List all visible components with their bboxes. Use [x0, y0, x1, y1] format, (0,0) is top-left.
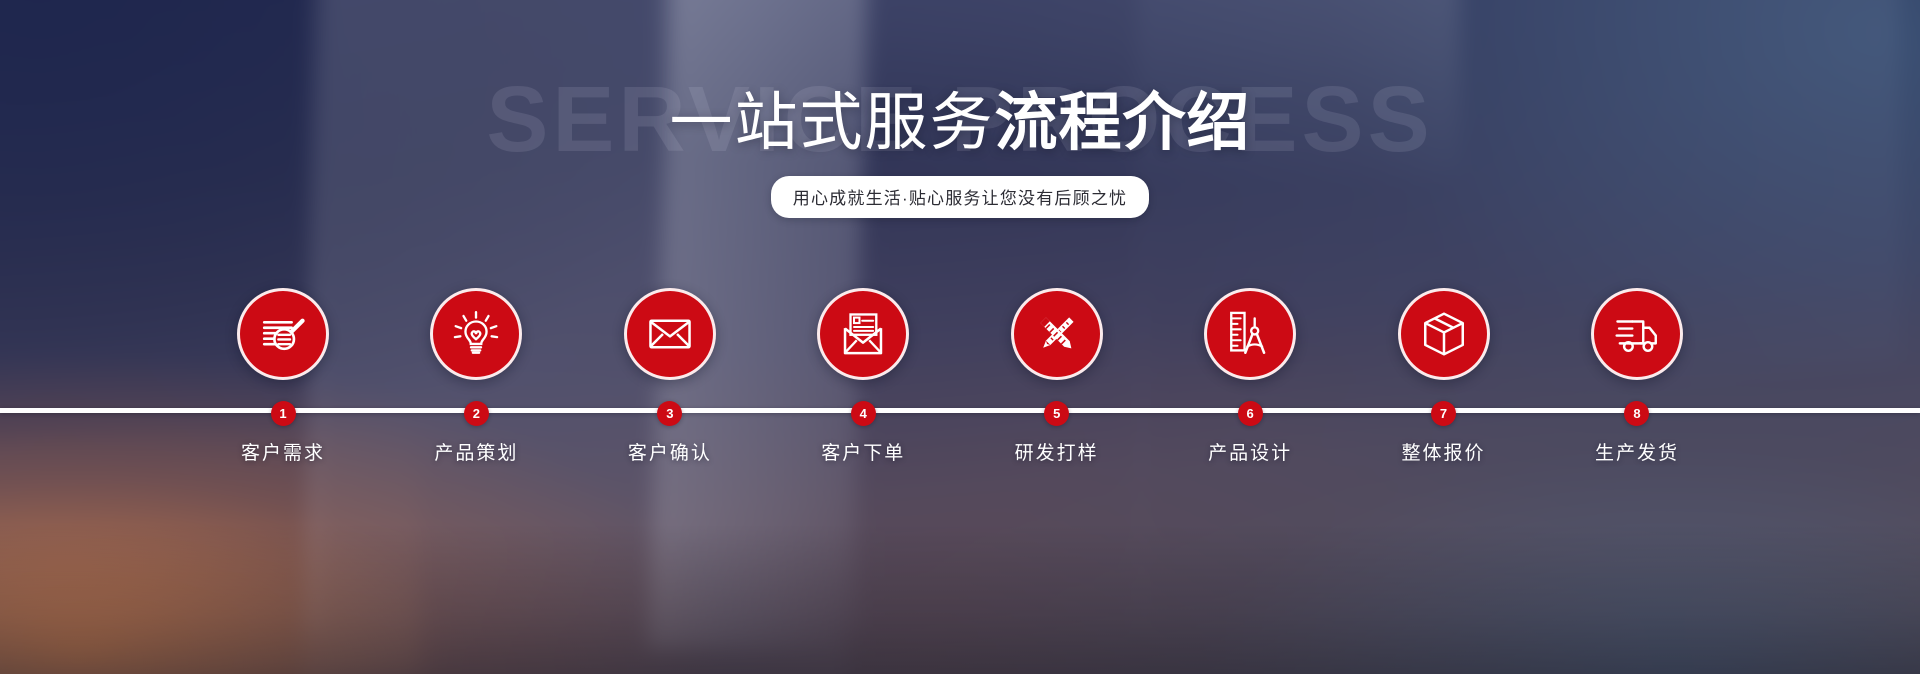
step-icon-circle[interactable]: [817, 288, 909, 380]
step-number-badge: 2: [464, 401, 489, 426]
process-step[interactable]: 7 整体报价: [1356, 288, 1532, 380]
step-number-badge: 6: [1238, 401, 1263, 426]
step-number-badge: 4: [851, 401, 876, 426]
process-step[interactable]: 3 客户确认: [582, 288, 758, 380]
step-label: 客户确认: [628, 438, 712, 465]
delivery-truck-icon: [1612, 309, 1662, 359]
step-label: 客户需求: [241, 438, 325, 465]
step-icon-circle[interactable]: [624, 288, 716, 380]
step-icon-circle[interactable]: [237, 288, 329, 380]
banner-stage: SERVICE PROCESS 一站式服务流程介绍 用心成就生活·贴心服务让您没…: [0, 0, 1920, 674]
ruler-compass-icon: [1225, 309, 1275, 359]
bottom-vignette: [0, 524, 1920, 674]
process-step[interactable]: 5 研发打样: [969, 288, 1145, 380]
step-label: 研发打样: [1015, 438, 1099, 465]
step-icon-circle[interactable]: [430, 288, 522, 380]
page-title-bold: 流程介绍: [995, 88, 1251, 158]
step-label: 整体报价: [1402, 438, 1486, 465]
document-search-icon: [258, 309, 308, 359]
step-label: 产品策划: [434, 438, 518, 465]
step-number-badge: 1: [271, 401, 296, 426]
process-step[interactable]: 6 产品设计: [1162, 288, 1338, 380]
step-icon-circle[interactable]: [1591, 288, 1683, 380]
step-icon-circle[interactable]: [1204, 288, 1296, 380]
step-number-badge: 8: [1624, 401, 1649, 426]
step-icon-circle[interactable]: [1011, 288, 1103, 380]
open-envelope-letter-icon: [838, 309, 888, 359]
process-step[interactable]: 8 生产发货: [1549, 288, 1725, 380]
page-title-light: 一站式服务: [670, 88, 995, 158]
step-number-badge: 5: [1044, 401, 1069, 426]
step-icon-circle[interactable]: [1398, 288, 1490, 380]
process-step[interactable]: 2 产品策划: [388, 288, 564, 380]
process-step[interactable]: 1 客户需求: [195, 288, 371, 380]
pencil-ruler-cross-icon: [1032, 309, 1082, 359]
step-number-badge: 7: [1431, 401, 1456, 426]
box-package-icon: [1419, 309, 1469, 359]
step-label: 客户下单: [821, 438, 905, 465]
subtitle-pill: 用心成就生活·贴心服务让您没有后顾之忧: [771, 176, 1149, 218]
page-title: 一站式服务流程介绍: [0, 85, 1920, 161]
process-step[interactable]: 4 客户下单: [775, 288, 951, 380]
step-number-badge: 3: [657, 401, 682, 426]
step-label: 生产发货: [1595, 438, 1679, 465]
step-label: 产品设计: [1208, 438, 1292, 465]
envelope-icon: [645, 309, 695, 359]
lightbulb-icon: [451, 309, 501, 359]
process-step-list: 1 客户需求: [195, 288, 1725, 508]
subtitle-row: 用心成就生活·贴心服务让您没有后顾之忧: [0, 176, 1920, 218]
